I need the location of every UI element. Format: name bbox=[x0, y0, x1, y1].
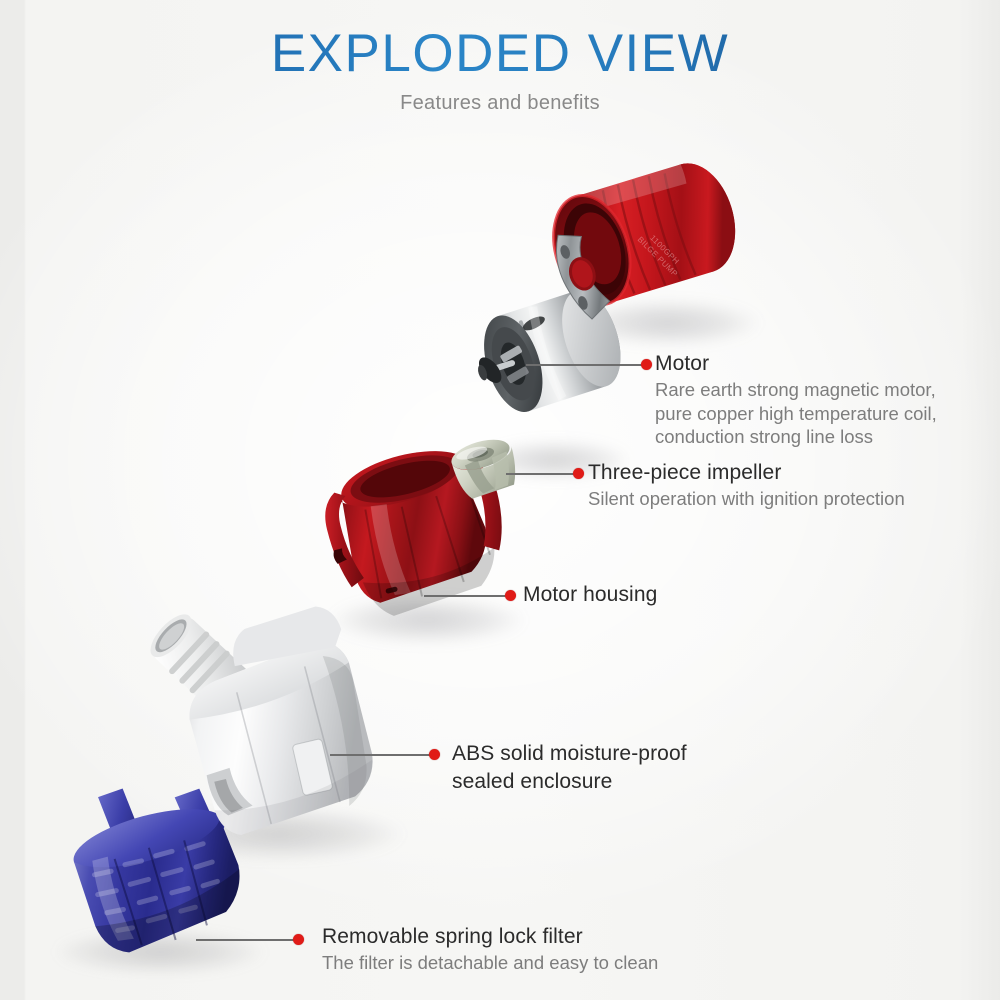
leader-line-housing bbox=[424, 595, 508, 597]
callout-title-motor: Motor bbox=[655, 352, 937, 376]
callout-title-enclosure: ABS solid moisture-proof bbox=[452, 742, 687, 766]
callout-title-impeller: Three-piece impeller bbox=[588, 461, 905, 485]
callout-impeller: Three-piece impeller Silent operation wi… bbox=[588, 461, 905, 511]
callout-housing: Motor housing bbox=[523, 583, 657, 607]
callout-dot-filter bbox=[293, 934, 304, 945]
callout-desc-motor-line-1: Rare earth strong magnetic motor, bbox=[655, 378, 937, 402]
callout-desc-motor: Rare earth strong magnetic motor, pure c… bbox=[655, 378, 937, 449]
page-title: EXPLODED VIEW bbox=[0, 0, 1000, 82]
callout-dot-impeller bbox=[573, 468, 584, 479]
header: EXPLODED VIEW Features and benefits bbox=[0, 0, 1000, 115]
callout-title-enclosure-line-2: sealed enclosure bbox=[452, 770, 687, 794]
callout-title-filter: Removable spring lock filter bbox=[322, 925, 658, 949]
callout-dot-enclosure bbox=[429, 749, 440, 760]
callout-desc-filter-line-1: The filter is detachable and easy to cle… bbox=[322, 951, 658, 975]
leader-line-enclosure bbox=[330, 754, 432, 756]
leader-line-filter bbox=[196, 939, 296, 941]
callout-motor: Motor Rare earth strong magnetic motor, … bbox=[655, 352, 937, 449]
callout-desc-filter: The filter is detachable and easy to cle… bbox=[322, 951, 658, 975]
callout-title-housing: Motor housing bbox=[523, 583, 657, 607]
leader-line-motor bbox=[526, 364, 646, 366]
page-subtitle: Features and benefits bbox=[0, 92, 1000, 115]
callout-dot-housing bbox=[505, 590, 516, 601]
callout-desc-motor-line-3: conduction strong line loss bbox=[655, 425, 937, 449]
callout-dot-motor bbox=[641, 359, 652, 370]
leader-line-impeller bbox=[506, 473, 576, 475]
callout-enclosure: ABS solid moisture-proof sealed enclosur… bbox=[452, 742, 687, 794]
exploded-view-diagram: EXPLODED VIEW Features and benefits bbox=[0, 0, 1000, 1000]
callout-desc-impeller-line-1: Silent operation with ignition protectio… bbox=[588, 487, 905, 511]
callout-desc-impeller: Silent operation with ignition protectio… bbox=[588, 487, 905, 511]
part-red-end-cap: 1100GPH BILGE PUMP bbox=[556, 172, 766, 337]
callout-desc-motor-line-2: pure copper high temperature coil, bbox=[655, 402, 937, 426]
callout-filter: Removable spring lock filter The filter … bbox=[322, 925, 658, 975]
